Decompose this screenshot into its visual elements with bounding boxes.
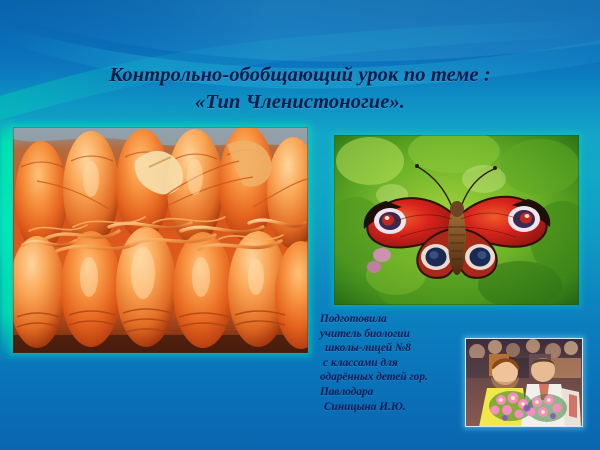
author-line-1: Подготовила: [320, 312, 480, 327]
author-line-6: Павлодара: [320, 385, 480, 400]
presentation-slide: Контрольно-обобщающий урок по теме : «Ти…: [0, 0, 600, 450]
author-line-5: одарённых детей гор.: [320, 370, 480, 385]
photo-butterfly: [334, 135, 579, 305]
title-line-1: Контрольно-обобщающий урок по теме :: [109, 64, 491, 86]
title-line-2: «Тип Членистоногие».: [0, 89, 600, 116]
photo-people-with-flowers: [465, 338, 583, 427]
page-title: Контрольно-обобщающий урок по теме : «Ти…: [0, 62, 600, 116]
author-line-2: учитель биологии: [320, 327, 480, 342]
author-credit-block: Подготовила учитель биологии школы-лицей…: [320, 312, 480, 414]
author-line-3: школы-лицей №8: [320, 341, 480, 356]
author-line-7: Синицына И.Ю.: [320, 400, 480, 415]
left-edge-glow: [0, 118, 14, 363]
photo-crayfish: [13, 127, 308, 353]
author-line-4: с классами для: [320, 356, 480, 371]
